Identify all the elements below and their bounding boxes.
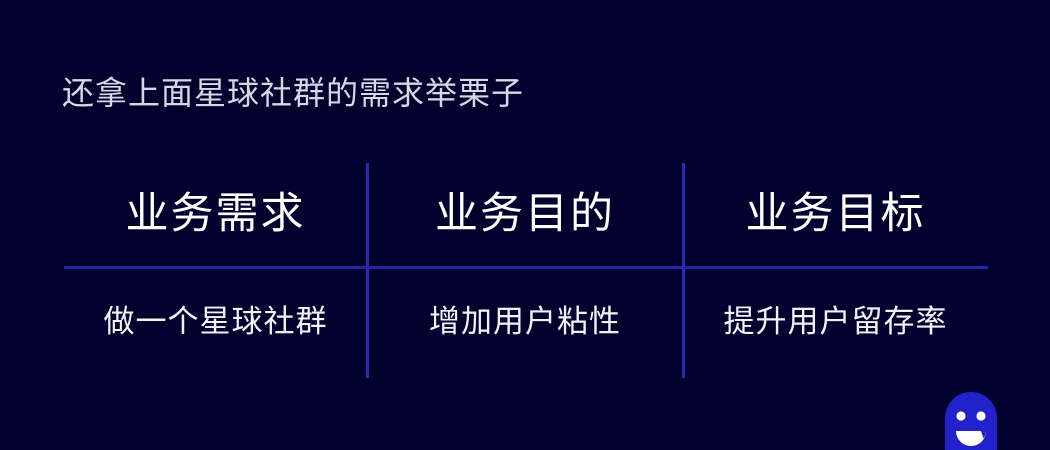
- table-header-cell-business-purpose: 业务目的: [367, 160, 683, 267]
- table-row: 做一个星球社群 增加用户粘性 提升用户留存率: [64, 267, 988, 377]
- table-header-cell-business-requirement: 业务需求: [64, 160, 367, 267]
- table-vertical-divider-2: [682, 163, 685, 378]
- table-horizontal-divider: [64, 266, 988, 269]
- table-header-row: 业务需求 业务目的 业务目标: [64, 160, 988, 267]
- comparison-table: 业务需求 业务目的 业务目标 做一个星球社群 增加用户粘性 提升用户留存率: [64, 160, 988, 380]
- slide-canvas: 还拿上面星球社群的需求举栗子 业务需求 业务目的 业务目标 做一个星球社群 增加…: [0, 0, 1050, 450]
- table-header-cell-business-goal: 业务目标: [683, 160, 988, 267]
- table-cell-business-purpose: 增加用户粘性: [367, 267, 683, 377]
- page-title: 还拿上面星球社群的需求举栗子: [62, 71, 524, 115]
- table-cell-business-goal: 提升用户留存率: [683, 267, 988, 377]
- table-cell-business-requirement: 做一个星球社群: [64, 267, 367, 377]
- table-vertical-divider-1: [366, 163, 369, 378]
- smiling-robot-face-icon: [945, 392, 997, 450]
